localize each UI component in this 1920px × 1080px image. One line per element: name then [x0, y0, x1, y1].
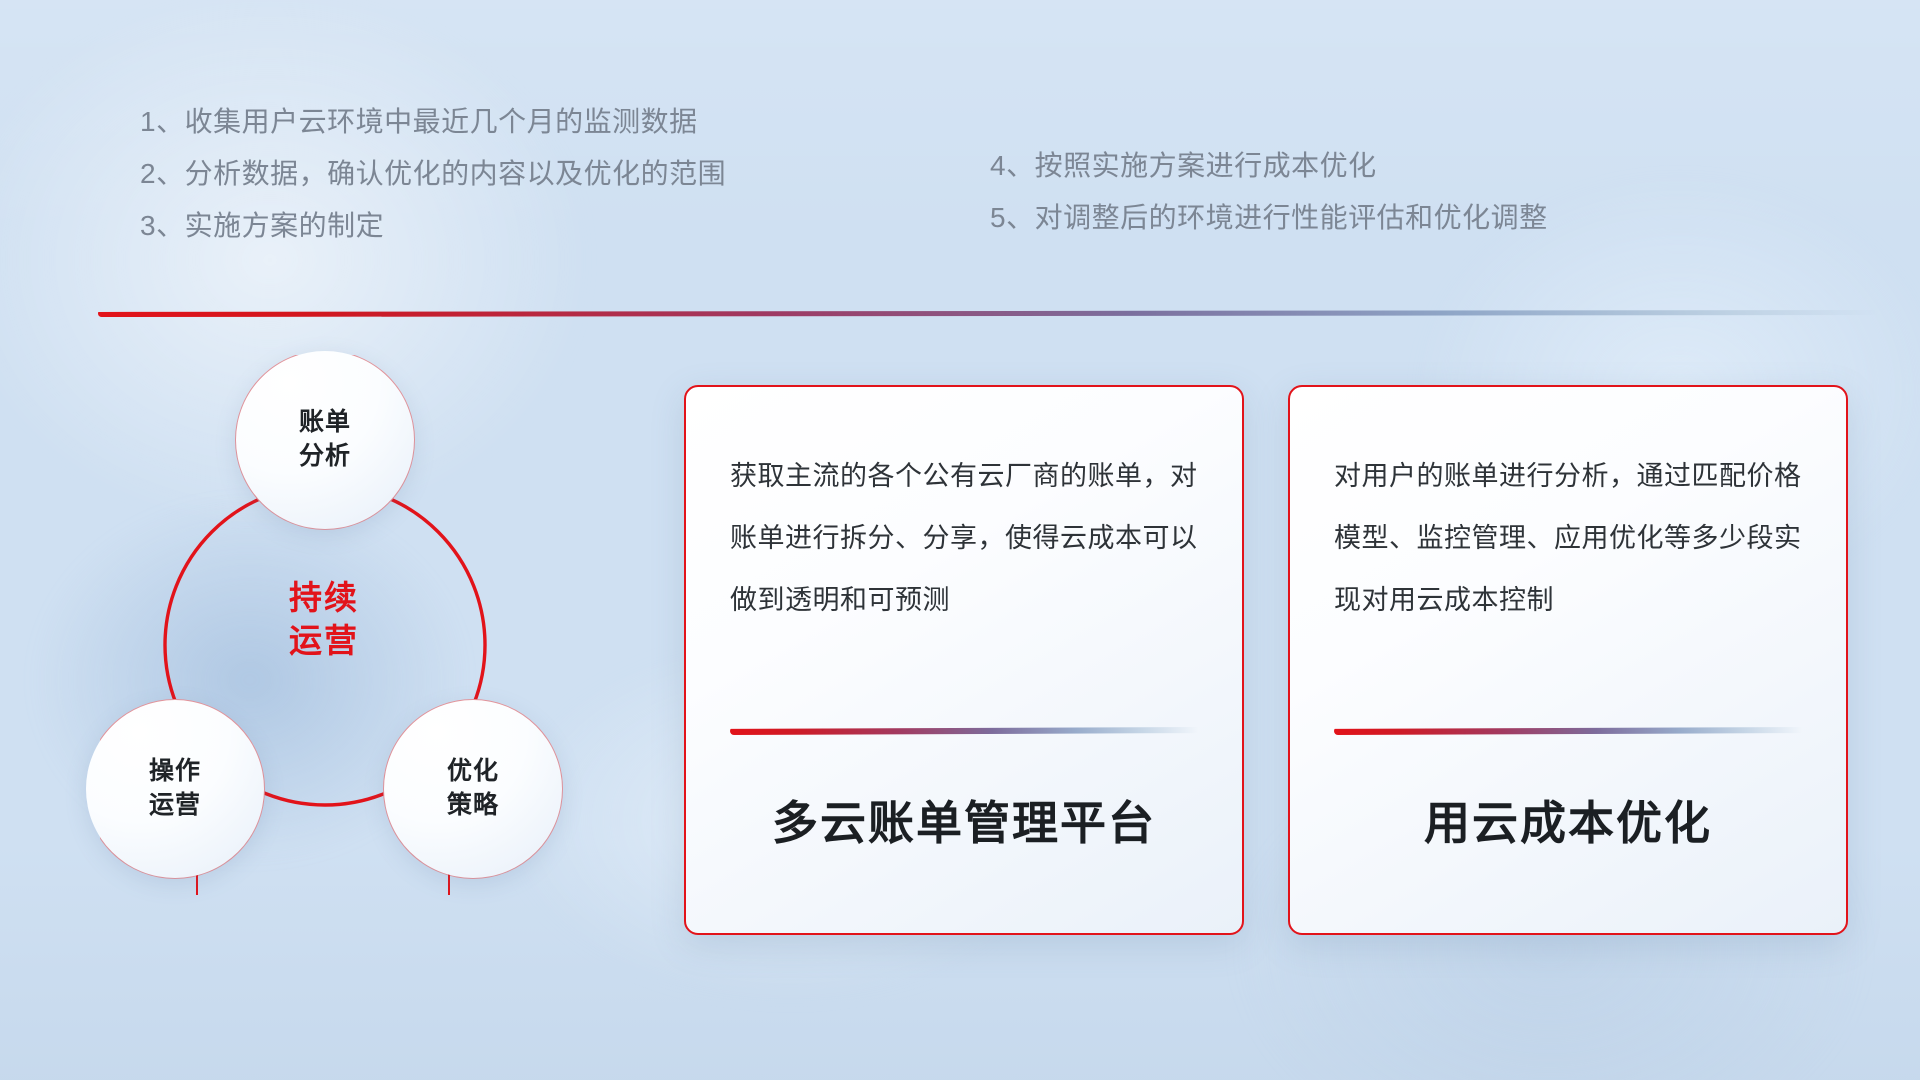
- step-item: 4、按照实施方案进行成本优化: [990, 140, 1548, 192]
- card-title: 多云账单管理平台: [686, 787, 1242, 853]
- venn-bubble-label: 优化策略: [447, 755, 499, 823]
- venn-bubble-label: 账单分析: [299, 406, 351, 474]
- step-item: 5、对调整后的环境进行性能评估和优化调整: [990, 192, 1548, 244]
- header-divider: [98, 310, 1878, 317]
- venn-bubble-label: 操作运营: [149, 755, 201, 823]
- steps-list-right: 4、按照实施方案进行成本优化 5、对调整后的环境进行性能评估和优化调整: [990, 140, 1548, 244]
- card-accent-rule: [730, 727, 1198, 735]
- venn-center-label-line2: 运营: [248, 620, 400, 663]
- slide-stage: 1、收集用户云环境中最近几个月的监测数据 2、分析数据，确认优化的内容以及优化的…: [0, 0, 1920, 1080]
- venn-bubble-label-line2: 策略: [447, 791, 499, 819]
- venn-center-label-line1: 持续: [248, 577, 400, 620]
- step-item: 1、收集用户云环境中最近几个月的监测数据: [140, 96, 726, 148]
- card-title: 用云成本优化: [1290, 787, 1846, 853]
- venn-bubble-label-line2: 分析: [299, 442, 351, 470]
- card-description: 对用户的账单进行分析，通过匹配价格模型、监控管理、应用优化等多少段实现对用云成本…: [1334, 445, 1802, 631]
- venn-bubble-billing-analysis[interactable]: 账单分析: [236, 351, 414, 529]
- venn-center-label: 持续 运营: [248, 577, 400, 663]
- venn-bubble-label-line2: 运营: [149, 791, 201, 819]
- step-item: 2、分析数据，确认优化的内容以及优化的范围: [140, 148, 726, 200]
- venn-bubble-label-line1: 操作: [149, 757, 201, 785]
- card-cloud-cost-optimization[interactable]: 对用户的账单进行分析，通过匹配价格模型、监控管理、应用优化等多少段实现对用云成本…: [1288, 385, 1848, 935]
- venn-diagram: 账单分析 操作运营 优化策略 持续 运营: [100, 355, 660, 955]
- venn-bubble-optimization-strategy[interactable]: 优化策略: [384, 700, 562, 878]
- card-description: 获取主流的各个公有云厂商的账单，对账单进行拆分、分享，使得云成本可以做到透明和可…: [730, 445, 1198, 631]
- card-multicloud-billing-platform[interactable]: 获取主流的各个公有云厂商的账单，对账单进行拆分、分享，使得云成本可以做到透明和可…: [684, 385, 1244, 935]
- step-item: 3、实施方案的制定: [140, 200, 726, 252]
- venn-bubble-operations[interactable]: 操作运营: [86, 700, 264, 878]
- venn-bubble-label-line1: 账单: [299, 408, 351, 436]
- venn-bubble-label-line1: 优化: [447, 757, 499, 785]
- steps-list-left: 1、收集用户云环境中最近几个月的监测数据 2、分析数据，确认优化的内容以及优化的…: [140, 96, 726, 252]
- card-accent-rule: [1334, 727, 1802, 735]
